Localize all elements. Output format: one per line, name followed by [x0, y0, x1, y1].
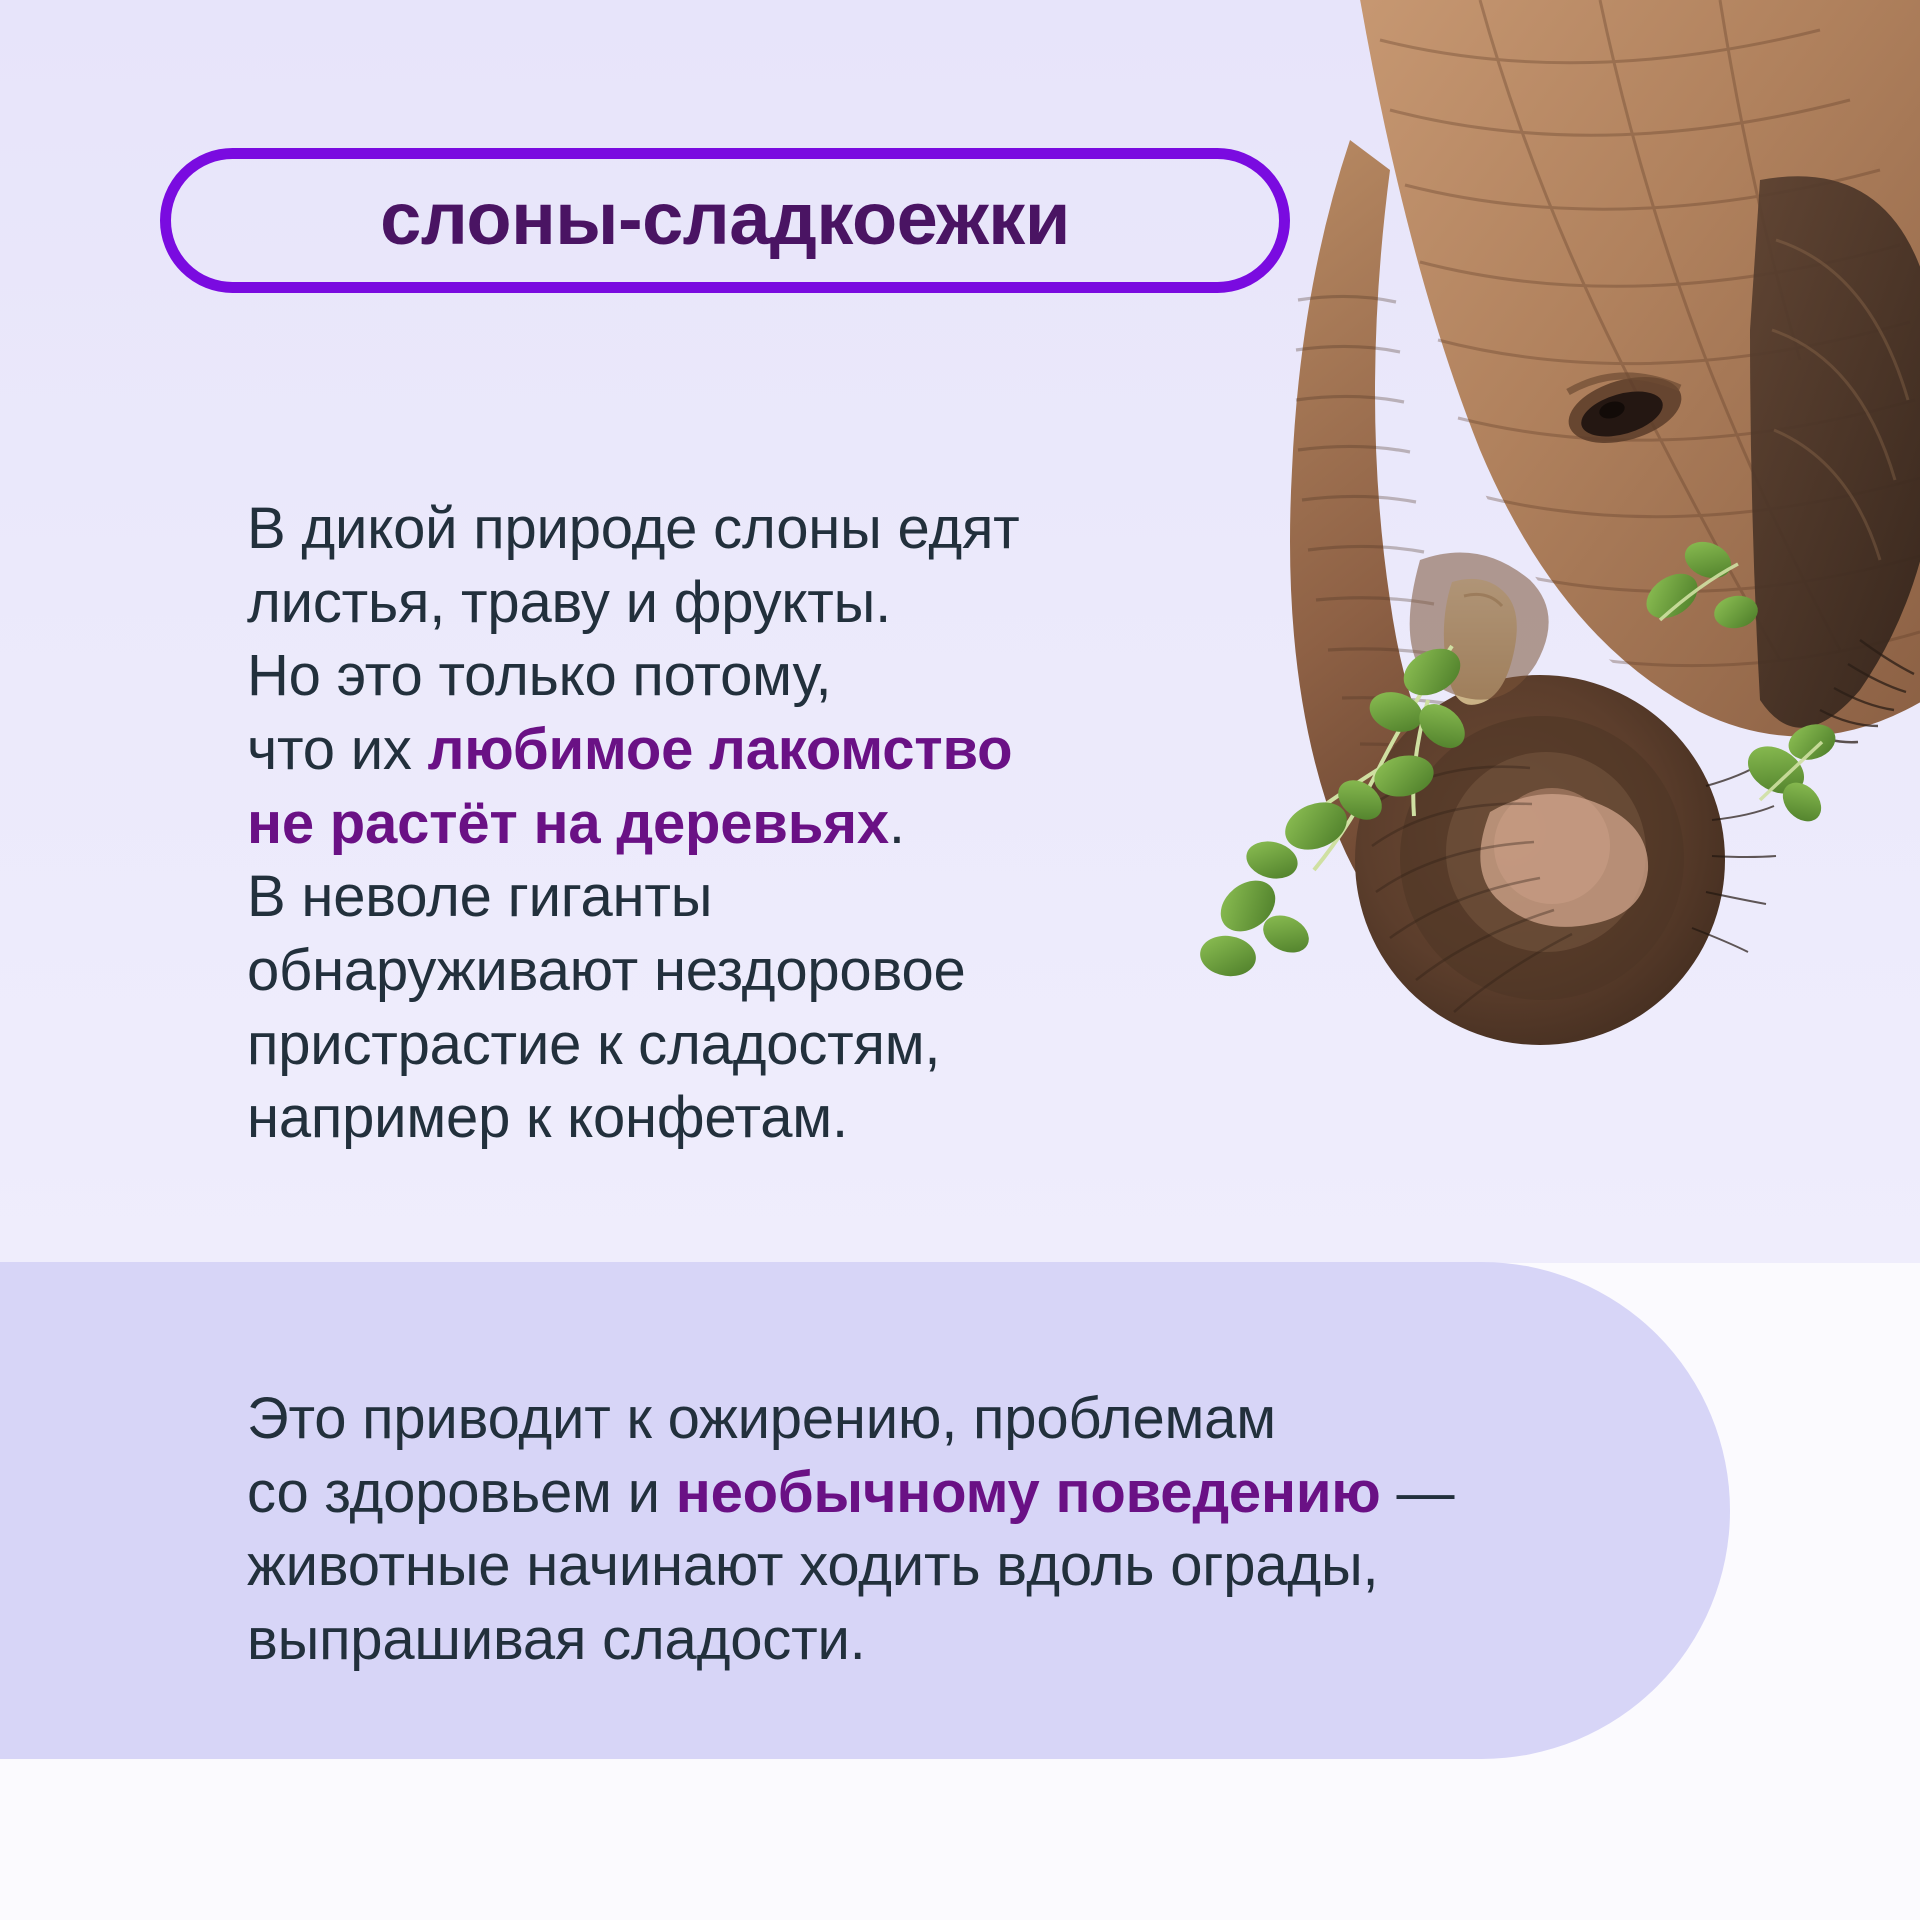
outcome-highlight-1: необычному поведению	[676, 1460, 1381, 1525]
intro-highlight-2: не растёт на деревьях	[247, 791, 889, 856]
intro-line-9: например к конфетам.	[247, 1085, 848, 1150]
title-badge: слоны-сладкоежки	[160, 148, 1290, 293]
intro-line-7: обнаруживают нездоровое	[247, 938, 966, 1003]
intro-line-6: В неволе гиганты	[247, 864, 712, 929]
intro-line-5-suffix: .	[889, 791, 905, 856]
outcome-line-3: животные начинают ходить вдоль ограды,	[247, 1533, 1378, 1598]
intro-line-3: Но это только потому,	[247, 643, 831, 708]
intro-line-2: листья, траву и фрукты.	[247, 570, 891, 635]
intro-paragraph: В дикой природе слоны едят листья, траву…	[247, 492, 1257, 1155]
intro-highlight-1: любимое лакомство	[428, 717, 1013, 782]
outcome-paragraph: Это приводит к ожирению, проблемам со зд…	[247, 1382, 1747, 1677]
intro-line-8: пристрастие к сладостям,	[247, 1012, 940, 1077]
poster-root: слоны-сладкоежки В дикой природе слоны е…	[0, 0, 1920, 1920]
outcome-line-2-suffix: —	[1381, 1460, 1455, 1525]
outcome-line-4: выпрашивая сладости.	[247, 1607, 866, 1672]
outcome-line-1: Это приводит к ожирению, проблемам	[247, 1386, 1276, 1451]
intro-line-1: В дикой природе слоны едят	[247, 496, 1020, 561]
page-title: слоны-сладкоежки	[380, 182, 1070, 260]
intro-line-4-prefix: что их	[247, 717, 428, 782]
outcome-line-2-prefix: со здоровьем и	[247, 1460, 676, 1525]
